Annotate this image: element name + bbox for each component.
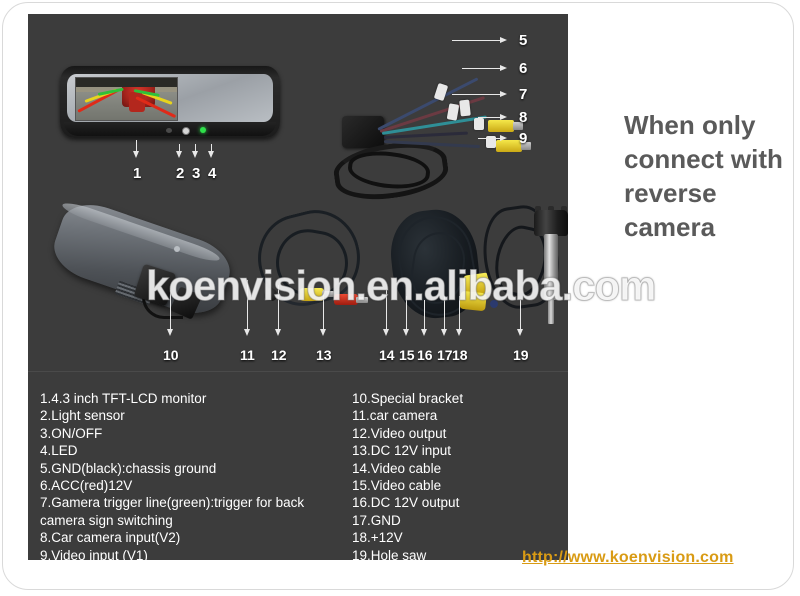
- light-sensor: [166, 128, 172, 133]
- callout-arrow-6: [462, 68, 500, 69]
- callout-number-9: 9: [519, 131, 527, 146]
- legend-item: 13.DC 12V input: [352, 442, 562, 459]
- callout-arrow-8: [478, 117, 500, 118]
- callout-number-2: 2: [176, 166, 184, 181]
- callout-arrow-9: [478, 138, 500, 139]
- legend-item: 11.car camera: [352, 407, 562, 424]
- website-url-link[interactable]: http://www.koenvision.com: [522, 549, 734, 567]
- legend: 1.4.3 inch TFT-LCD monitor2.Light sensor…: [28, 374, 568, 560]
- wire-clip-2: [447, 103, 460, 120]
- callout-number-4: 4: [208, 166, 216, 181]
- wiring-harness: [328, 32, 548, 192]
- onoff-button[interactable]: [182, 127, 190, 135]
- legend-item: 14.Video cable: [352, 460, 562, 477]
- callout-number-10: 10: [163, 348, 179, 362]
- callout-arrow-2: [179, 144, 180, 152]
- headline-text: When only connect with reverse camera: [624, 108, 794, 244]
- wire-clip-3: [459, 100, 471, 117]
- callout-number-3: 3: [192, 166, 200, 181]
- legend-item: 12.Video output: [352, 425, 562, 442]
- mirror-rear-dot: [174, 246, 180, 252]
- mirror-glass: [67, 74, 273, 122]
- legend-right-column: 10.Special bracket11.car camera12.Video …: [352, 390, 562, 560]
- legend-divider: [28, 371, 568, 372]
- legend-item: 9.Video input (V1): [40, 547, 340, 560]
- callout-number-19: 19: [513, 348, 529, 362]
- hole-saw-cup: [534, 210, 568, 236]
- legend-item: 17.GND: [352, 512, 562, 529]
- callout-number-13: 13: [316, 348, 332, 362]
- legend-item: 7.Gamera trigger line(green):trigger for…: [40, 494, 340, 529]
- legend-item: 16.DC 12V output: [352, 494, 562, 511]
- legend-item: 2.Light sensor: [40, 407, 340, 424]
- callout-number-7: 7: [519, 87, 527, 102]
- rearview-mirror-monitor: [60, 66, 280, 156]
- legend-item: 6.ACC(red)12V: [40, 477, 340, 494]
- legend-item: 10.Special bracket: [352, 390, 562, 407]
- legend-item: 3.ON/OFF: [40, 425, 340, 442]
- callout-number-5: 5: [519, 33, 527, 48]
- product-diagram-page: 12345678910111213141516171819 1.4.3 inch…: [0, 0, 800, 596]
- callout-number-17: 17: [437, 348, 453, 362]
- callout-number-8: 8: [519, 110, 527, 125]
- legend-item: 5.GND(black):chassis ground: [40, 460, 340, 477]
- callout-arrow-3: [195, 144, 196, 152]
- callout-number-14: 14: [379, 348, 395, 362]
- legend-left-column: 1.4.3 inch TFT-LCD monitor2.Light sensor…: [40, 390, 340, 560]
- watermark-outline: koenvision.en.alibaba.com: [146, 262, 656, 310]
- led-indicator: [200, 127, 206, 133]
- callout-number-15: 15: [399, 348, 415, 362]
- legend-item: 15.Video cable: [352, 477, 562, 494]
- callout-arrow-7: [452, 94, 500, 95]
- harness-control-box: [342, 116, 384, 148]
- wire-clip-1: [434, 83, 448, 101]
- rca-connector-v2: [488, 120, 514, 132]
- legend-item: 1.4.3 inch TFT-LCD monitor: [40, 390, 340, 407]
- callout-arrow-5: [452, 40, 500, 41]
- wire-clip-4: [474, 118, 484, 130]
- callout-number-11: 11: [240, 348, 255, 362]
- callout-number-16: 16: [417, 348, 433, 362]
- callout-arrow-4: [211, 144, 212, 152]
- callout-number-12: 12: [271, 348, 287, 362]
- legend-item: 18.+12V: [352, 529, 562, 546]
- callout-number-1: 1: [133, 166, 141, 181]
- callout-number-18: 18: [452, 348, 468, 362]
- legend-item: 4.LED: [40, 442, 340, 459]
- lcd-top-bezel: [76, 78, 177, 87]
- callout-arrow-1: [136, 140, 137, 152]
- callout-number-6: 6: [519, 61, 527, 76]
- lcd-screen: [75, 77, 178, 121]
- legend-item: 8.Car camera input(V2): [40, 529, 340, 546]
